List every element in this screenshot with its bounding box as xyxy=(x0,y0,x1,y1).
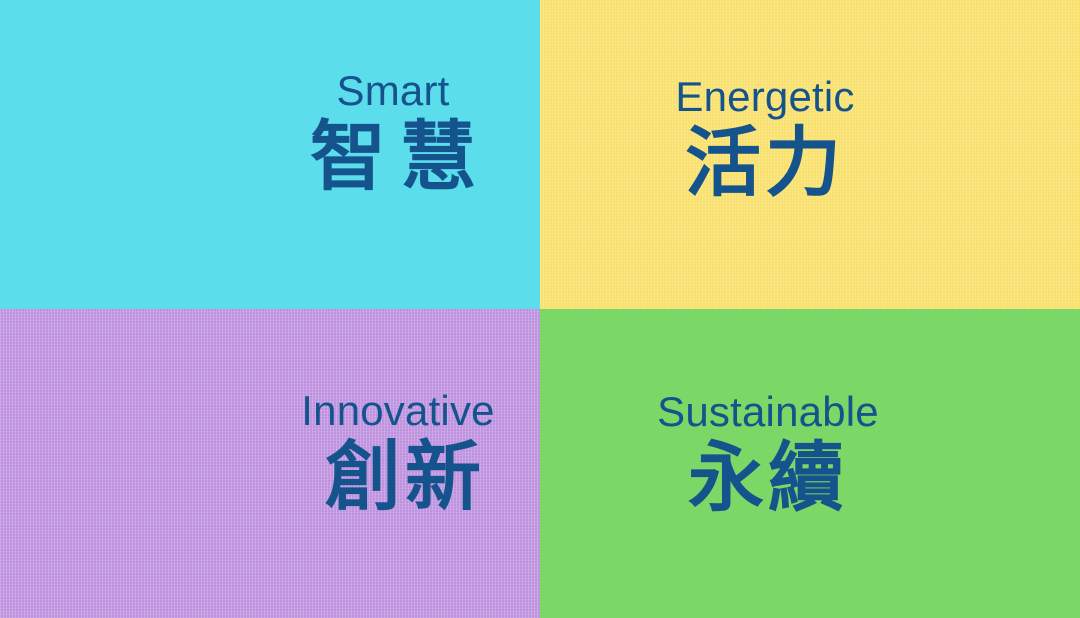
label-chinese-innovative: 創新 xyxy=(311,440,485,516)
label-chinese-smart: 智慧 xyxy=(296,120,490,196)
label-english-smart: Smart xyxy=(336,70,449,112)
text-block-energetic: Energetic 活力 xyxy=(675,76,854,202)
text-block-innovative: Innovative 創新 xyxy=(301,390,494,516)
text-block-smart: Smart 智慧 xyxy=(296,70,490,196)
label-chinese-sustainable: 永續 xyxy=(688,441,848,517)
quadrant-sustainable: Sustainable 永續 xyxy=(540,309,1080,618)
text-block-sustainable: Sustainable 永續 xyxy=(657,391,879,517)
label-english-innovative: Innovative xyxy=(301,390,494,432)
label-english-energetic: Energetic xyxy=(675,76,854,118)
brand-values-grid: Smart 智慧 Energetic 活力 Innovative 創新 Sust… xyxy=(0,0,1080,618)
quadrant-smart: Smart 智慧 xyxy=(0,0,540,309)
quadrant-innovative: Innovative 創新 xyxy=(0,309,540,618)
quadrant-energetic: Energetic 活力 xyxy=(540,0,1080,309)
label-chinese-energetic: 活力 xyxy=(685,126,845,202)
label-english-sustainable: Sustainable xyxy=(657,391,879,433)
